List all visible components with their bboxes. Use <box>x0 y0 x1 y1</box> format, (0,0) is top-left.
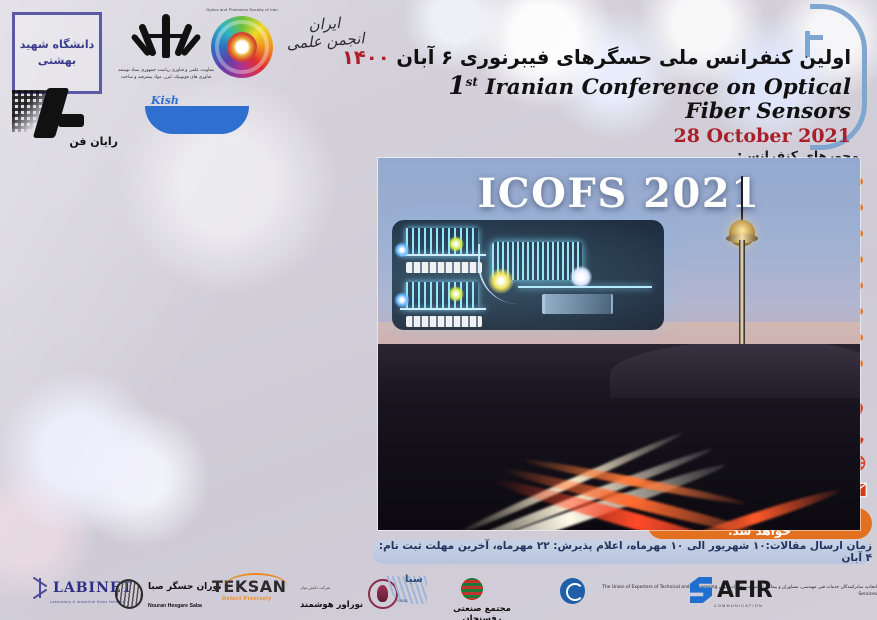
vice-presidency-caption: معاونت علمی و فناوری ریاست جمهوری ستاد ت… <box>118 67 214 82</box>
sponsor-safir: AFIR COMMUNICATION <box>690 577 772 603</box>
highway-light-trails <box>378 360 860 530</box>
sponsor-teksan: TEKSAN Detect Precisely <box>212 577 287 596</box>
title-persian-year: ۱۴۰۰ <box>342 46 390 69</box>
nouravar-label: نوراور هوشمند <box>300 600 363 610</box>
tower-mast <box>741 176 743 224</box>
logo-optics-photonics-society-of-iran: Optics and Photonics Society of Iran <box>205 8 279 82</box>
title-english-rest: Iranian Conference on Optical Fiber Sens… <box>485 75 851 124</box>
rafsanjan-emblem-icon <box>455 574 489 604</box>
logo-shahid-beheshti-university: دانشگاه شهید بهشتی <box>12 12 102 94</box>
title-ordinal-suffix: st <box>466 75 478 89</box>
light-glow <box>394 242 410 258</box>
sponsor-saba: سبا SABA <box>385 576 427 604</box>
rayan-hook-icon <box>58 114 84 127</box>
fiber-grating-top <box>406 262 482 273</box>
light-glow <box>448 236 464 252</box>
light-glow <box>570 266 592 288</box>
photonic-chip-illustration <box>392 220 664 330</box>
sponsor-nouran-hesgare-saba: نوران حسگر صبا Nouran Hesgare Saba <box>115 576 221 612</box>
safir-label: AFIR <box>717 578 772 603</box>
deadline-bar: زمان ارسال مقالات:۱۰ شهریور الی ۱۰ مهرما… <box>372 540 872 564</box>
conference-poster: دانشگاه شهید بهشتی معاونت علمی و فناوری … <box>0 0 877 620</box>
sbu-logo-frame: دانشگاه شهید بهشتی <box>12 12 102 94</box>
light-glow <box>448 286 464 302</box>
nouran-coil-icon <box>111 575 147 612</box>
iran-emblem-icon <box>138 14 194 64</box>
conference-date-english: 28 October 2021 <box>381 125 851 147</box>
sbu-logo-text: دانشگاه شهید بهشتی <box>15 37 99 69</box>
opsi-caption-ring: Optics and Photonics Society of Iran <box>205 8 279 82</box>
opsi-caption-text: Optics and Photonics Society of Iran <box>205 7 279 12</box>
waveguide-serpentine-top <box>406 228 478 254</box>
waveguide-rail-bottom <box>400 308 486 310</box>
union-emblem-icon <box>560 578 585 604</box>
banner-title: ICOFS 2021 <box>378 170 860 217</box>
waveguide-rail-top <box>400 254 486 256</box>
safir-s-icon <box>690 577 712 603</box>
nouran-text-group: نوران حسگر صبا Nouran Hesgare Saba <box>148 576 221 612</box>
nouran-label-fa: نوران حسگر صبا <box>148 582 221 592</box>
waveguide-serpentine-bottom <box>406 282 478 308</box>
logo-rayan-fan: رایان فن <box>10 88 120 146</box>
title-persian-main: اولین کنفرانس ملی حسگرهای فیبرنوری ۶ آبا… <box>396 46 851 69</box>
title-block: اولین کنفرانس ملی حسگرهای فیبرنوری ۶ آبا… <box>381 46 851 147</box>
logo-kish-mechatronics: Kish Mechatronics <box>145 92 265 142</box>
caliper-illustration <box>542 294 613 314</box>
rafsanjan-label: مجتمع صنعتی رفسنجان <box>447 604 517 620</box>
sponsor-nouravar-houshmand: شرکت دانش بنیان نوراور هوشمند <box>300 576 398 612</box>
title-ordinal-number: 1 <box>448 71 465 100</box>
rayan-fan-label: رایان فن <box>69 135 118 148</box>
sponsor-rafsanjan-industrial-complex: مجتمع صنعتی رفسنجان <box>455 574 489 604</box>
labinet-mark-icon <box>32 578 48 598</box>
nouravar-sublabel: شرکت دانش بنیان <box>300 585 330 590</box>
deadline-text: زمان ارسال مقالات:۱۰ شهریور الی ۱۰ مهرما… <box>372 540 872 564</box>
tehran-highway-night-photo <box>378 344 860 530</box>
sponsor-strip: LABINET Laboratory & Industrial Sales Ne… <box>0 568 877 620</box>
saba-label: سبا <box>405 574 423 585</box>
logo-vice-presidency-science-technology: معاونت علمی و فناوری ریاست جمهوری ستاد ت… <box>118 14 214 94</box>
title-persian: اولین کنفرانس ملی حسگرهای فیبرنوری ۶ آبا… <box>381 46 851 70</box>
safir-sublabel: COMMUNICATION <box>714 604 763 608</box>
kish-mechatronics-label: Kish Mechatronics <box>151 94 265 120</box>
teksan-arc-icon <box>224 573 288 587</box>
labinet-sublabel: Laboratory & Industrial Sales Network <box>50 600 125 604</box>
fiber-grating-bottom <box>406 316 482 327</box>
saba-sublabel: SABA <box>397 598 408 603</box>
title-english: 1st Iranian Conference on Optical Fiber … <box>381 72 851 123</box>
nouravar-text-group: شرکت دانش بنیان نوراور هوشمند <box>300 576 363 612</box>
light-glow <box>394 292 410 308</box>
conference-banner-image: ICOFS 2021 <box>378 158 860 530</box>
teksan-sublabel: Detect Precisely <box>222 596 272 602</box>
nouran-label-en: Nouran Hesgare Saba <box>148 603 202 609</box>
light-glow <box>488 268 514 294</box>
